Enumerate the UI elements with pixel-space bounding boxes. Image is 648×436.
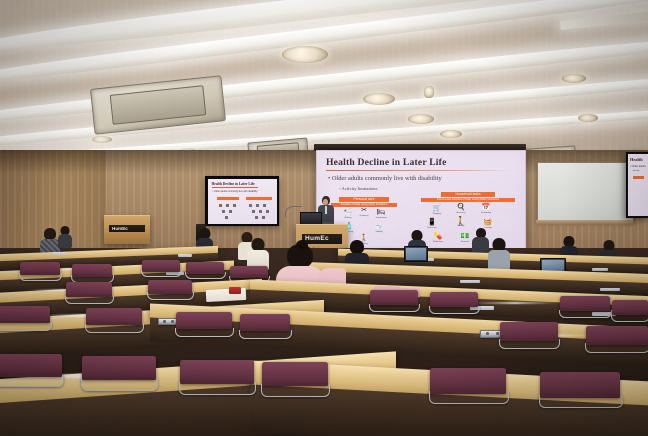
left-monitor-label-right bbox=[246, 197, 272, 200]
chair[interactable] bbox=[0, 354, 62, 394]
chair[interactable] bbox=[262, 362, 328, 404]
chair[interactable] bbox=[66, 282, 112, 308]
monitor-slide-bullet: • Older adults bbox=[630, 165, 646, 168]
attendee-far-left bbox=[58, 226, 72, 248]
slide-sub-bullet: ◦ Activity limitations bbox=[339, 186, 377, 191]
chair[interactable] bbox=[142, 260, 180, 280]
slide-group-left-sublabel: Activities of Daily Living (ADL) limitat… bbox=[331, 203, 397, 207]
chair[interactable] bbox=[82, 356, 156, 398]
outlet-plate bbox=[178, 254, 192, 257]
outlet-plate bbox=[600, 288, 620, 291]
chair[interactable] bbox=[186, 262, 224, 282]
attendee-hair-bun bbox=[296, 240, 308, 250]
chair[interactable] bbox=[176, 312, 232, 342]
monitor-highlight-bar bbox=[633, 176, 644, 179]
desk-red-case bbox=[229, 287, 241, 294]
lectern-left-brand-text: HumEc bbox=[112, 226, 128, 231]
recessed-downlight bbox=[408, 114, 434, 124]
recessed-downlight bbox=[578, 114, 598, 122]
chair[interactable] bbox=[240, 314, 290, 344]
slide-icon-phone: 📱 Phone use bbox=[425, 219, 439, 229]
slide-group-right-label: Household tasks bbox=[441, 192, 495, 197]
lectern-brand-text: HumEc bbox=[305, 235, 329, 242]
attendee-laptop bbox=[404, 246, 428, 262]
grooming-icon: ✂ bbox=[357, 207, 371, 215]
cooking-icon: 🍳 bbox=[454, 204, 468, 212]
slide-icon-transferring: 🛏 Transferring bbox=[374, 209, 388, 219]
slide-group-right-sublabel: Instrumental Activities of Daily Living … bbox=[421, 198, 515, 202]
recessed-downlight bbox=[562, 74, 586, 83]
outlet-plate bbox=[460, 280, 480, 283]
recessed-downlight bbox=[282, 46, 328, 63]
money-icon: 💵 bbox=[457, 233, 473, 241]
whiteboard-marker-tray bbox=[536, 220, 633, 225]
wall-monitor-left: Health Decline in Later Life • Older adu… bbox=[205, 176, 279, 226]
monitor-slide-title: Health bbox=[630, 157, 643, 162]
left-monitor-title: Health Decline in Later Life bbox=[212, 182, 255, 186]
slide-icon-scheduling: 📅 Scheduling bbox=[479, 204, 493, 214]
chair[interactable] bbox=[370, 290, 418, 316]
chair[interactable] bbox=[586, 326, 648, 358]
recessed-downlight bbox=[424, 86, 434, 98]
outlet-plate bbox=[52, 252, 66, 255]
chair[interactable] bbox=[612, 300, 648, 326]
chair[interactable] bbox=[86, 308, 142, 338]
slide-group-left-label: Personal care bbox=[339, 197, 389, 202]
chair[interactable] bbox=[560, 296, 610, 322]
chair[interactable] bbox=[430, 292, 478, 318]
slide-icon-mobility: 🚶 Mobility bbox=[453, 217, 469, 227]
bathing-icon: 🛀 bbox=[341, 209, 355, 217]
slide-icon-meal-prep: 🍳 Meal prep bbox=[454, 204, 468, 214]
laundry-icon: 🧺 bbox=[481, 219, 495, 227]
slide-icon-toileting: 🚽 Toileting bbox=[372, 223, 386, 233]
wall-monitor-right: Health • Older adults ◦ Activity bbox=[626, 152, 648, 218]
monitor-slide-sub: ◦ Activity bbox=[632, 170, 640, 172]
left-monitor-label-left bbox=[217, 197, 239, 200]
chair[interactable] bbox=[540, 372, 620, 416]
chair[interactable] bbox=[20, 262, 60, 284]
slide-icon-finances: 💵 Finances bbox=[457, 233, 473, 243]
recessed-downlight bbox=[363, 93, 395, 105]
recessed-downlight bbox=[92, 136, 112, 143]
medication-icon: 💊 bbox=[431, 233, 445, 241]
whiteboard bbox=[537, 162, 634, 221]
shopping-cart-icon: 🛒 bbox=[430, 205, 444, 213]
lectern-brand-plate: HumEc bbox=[302, 234, 342, 244]
slide-icon-shopping: 🛒 Shopping bbox=[430, 205, 444, 215]
left-monitor-bullet: • Older adults commonly live with disabi… bbox=[213, 190, 258, 193]
outlet-plate bbox=[592, 268, 608, 271]
recessed-downlight bbox=[440, 130, 462, 138]
calendar-icon: 📅 bbox=[479, 204, 493, 212]
slide-title: Health Decline in Later Life bbox=[326, 157, 447, 168]
bed-transfer-icon: 🛏 bbox=[374, 209, 388, 217]
lectern-left-brand-plate: HumEc bbox=[109, 225, 145, 232]
lecture-hall-photo: Health • Older adults ◦ Activity Health … bbox=[0, 0, 648, 436]
toilet-icon: 🚽 bbox=[372, 223, 386, 231]
slide-bullet: • Older adults commonly live with disabi… bbox=[328, 175, 442, 182]
attendee-far-right bbox=[472, 228, 489, 254]
chair[interactable] bbox=[430, 368, 506, 412]
walking-icon: 🚶 bbox=[453, 217, 469, 225]
chair[interactable] bbox=[180, 360, 254, 402]
slide-title-underline bbox=[326, 170, 512, 171]
ceiling bbox=[0, 0, 648, 168]
slide-icon-bathing: 🛀 Bathing bbox=[341, 209, 355, 219]
attendee-row2-grey-hoodie bbox=[488, 238, 510, 270]
phone-icon: 📱 bbox=[425, 219, 439, 227]
slide-icon-grooming: ✂ Grooming bbox=[357, 207, 371, 217]
chair[interactable] bbox=[148, 280, 192, 304]
chair[interactable] bbox=[500, 322, 558, 354]
chair[interactable] bbox=[0, 306, 50, 336]
slide-icon-medication: 💊 Medication bbox=[431, 233, 445, 243]
